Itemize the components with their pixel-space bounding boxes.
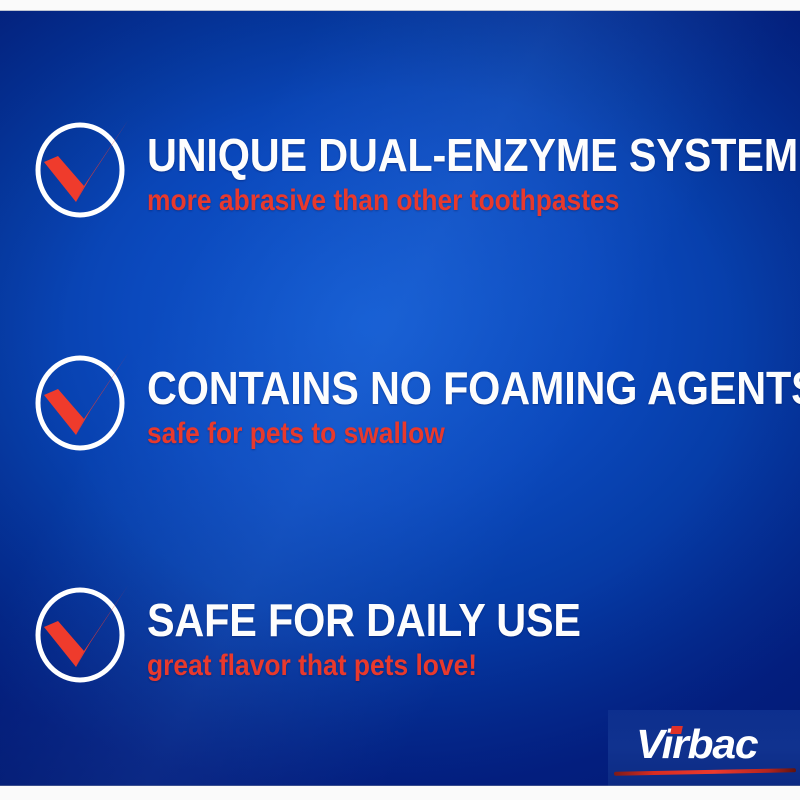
- feature-subline: more abrasive than other toothpastes: [147, 184, 715, 218]
- poster-canvas: UNIQUE DUAL-ENZYME SYSTEM more abrasive …: [0, 0, 800, 800]
- circle-check-icon: [28, 112, 140, 224]
- brand-accent-dot-icon: [670, 726, 683, 734]
- feature-headline: UNIQUE DUAL-ENZYME SYSTEM: [147, 108, 728, 180]
- circle-check-icon: [28, 577, 140, 689]
- feature-row: UNIQUE DUAL-ENZYME SYSTEM more abrasive …: [0, 108, 800, 228]
- feature-subline: great flavor that pets love!: [147, 649, 715, 683]
- feature-text-group: SAFE FOR DAILY USE great flavor that pet…: [147, 573, 792, 683]
- bottom-white-band: [0, 786, 800, 800]
- feature-subline: safe for pets to swallow: [147, 417, 715, 451]
- top-edge-line: [0, 10, 800, 11]
- feature-row: SAFE FOR DAILY USE great flavor that pet…: [0, 573, 800, 693]
- feature-row: CONTAINS NO FOAMING AGENTS safe for pets…: [0, 341, 800, 461]
- feature-headline: SAFE FOR DAILY USE: [147, 573, 728, 645]
- brand-underline-swoosh-icon: [614, 768, 796, 775]
- feature-text-group: CONTAINS NO FOAMING AGENTS safe for pets…: [147, 341, 792, 451]
- brand-logo: Virbac: [608, 710, 800, 786]
- circle-check-icon: [28, 345, 140, 457]
- brand-wordmark: Virbac: [636, 722, 757, 766]
- product-feature-poster: UNIQUE DUAL-ENZYME SYSTEM more abrasive …: [0, 11, 800, 786]
- feature-headline: CONTAINS NO FOAMING AGENTS: [147, 341, 728, 413]
- feature-text-group: UNIQUE DUAL-ENZYME SYSTEM more abrasive …: [147, 108, 792, 218]
